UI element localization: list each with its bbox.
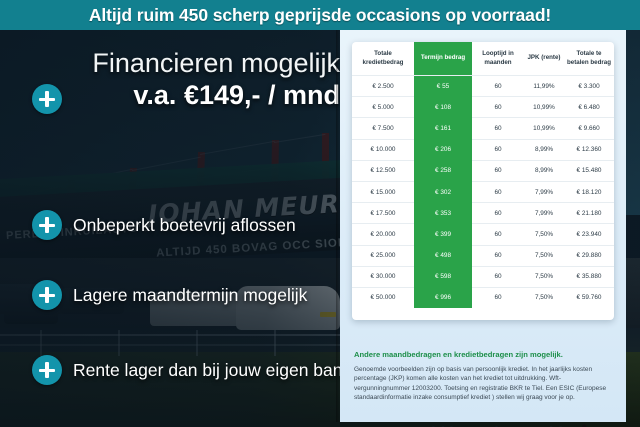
td-krediet: € 50.000 [352, 287, 414, 308]
td-krediet: € 15.000 [352, 181, 414, 202]
table-row: € 30.000€ 598607,50%€ 35.880 [352, 266, 614, 287]
td-jkp: 7,50% [524, 245, 564, 266]
top-banner: Altijd ruim 450 scherp geprijsde occasio… [0, 0, 640, 30]
th-totale-te-betalen: Totale te betalen bedrag [564, 42, 614, 76]
td-jkp: 7,50% [524, 266, 564, 287]
advertisement-banner: JOHAN MEURE PERLER INRUILAUTO'S ALTIJD 4… [0, 0, 640, 427]
td-jkp: 10,99% [524, 97, 564, 118]
td-krediet: € 20.000 [352, 224, 414, 245]
td-jkp: 11,99% [524, 76, 564, 97]
td-looptijd: 60 [472, 224, 524, 245]
td-totaal: € 6.480 [564, 97, 614, 118]
table-row: € 15.000€ 302607,99%€ 18.120 [352, 181, 614, 202]
td-termijn: € 399 [414, 224, 472, 245]
rates-table-card: Totale kredietbedrag Termijn bedrag Loop… [352, 42, 614, 320]
table-row: € 5.000€ 1086010,99%€ 6.480 [352, 97, 614, 118]
benefit-label: Onbeperkt boetevrij aflossen [73, 215, 296, 236]
plus-circle-icon [32, 280, 62, 310]
benefit-label: Lagere maandtermijn mogelijk [73, 285, 307, 306]
td-termijn: € 498 [414, 245, 472, 266]
td-termijn: € 108 [414, 97, 472, 118]
th-totale-kredietbedrag: Totale kredietbedrag [352, 42, 414, 76]
td-krediet: € 10.000 [352, 139, 414, 160]
loan-warning: Let op! Geld lenen kost geld [354, 422, 612, 427]
td-looptijd: 60 [472, 76, 524, 97]
td-krediet: € 30.000 [352, 266, 414, 287]
td-totaal: € 59.760 [564, 287, 614, 308]
td-totaal: € 23.940 [564, 224, 614, 245]
td-jkp: 7,99% [524, 203, 564, 224]
table-row: € 50.000€ 996607,50%€ 59.760 [352, 287, 614, 308]
td-termijn: € 302 [414, 181, 472, 202]
td-krediet: € 17.500 [352, 203, 414, 224]
table-row: € 20.000€ 399607,50%€ 23.940 [352, 224, 614, 245]
td-totaal: € 29.880 [564, 245, 614, 266]
td-termijn: € 598 [414, 266, 472, 287]
hero-headline-line1: Financieren mogelijk [28, 48, 340, 79]
table-row: € 12.500€ 258608,99%€ 15.480 [352, 160, 614, 181]
th-termijn-bedrag: Termijn bedrag [414, 42, 472, 76]
disclaimer-body: Genoemde voorbeelden zijn op basis van p… [354, 365, 608, 403]
table-row: € 25.000€ 498607,50%€ 29.880 [352, 245, 614, 266]
td-totaal: € 18.120 [564, 181, 614, 202]
table-row: € 17.500€ 353607,99%€ 21.180 [352, 203, 614, 224]
plus-circle-icon [32, 355, 62, 385]
td-jkp: 10,99% [524, 118, 564, 139]
plus-circle-icon [32, 210, 62, 240]
td-looptijd: 60 [472, 266, 524, 287]
table-header-row: Totale kredietbedrag Termijn bedrag Loop… [352, 42, 614, 76]
td-termijn: € 996 [414, 287, 472, 308]
td-termijn: € 353 [414, 203, 472, 224]
td-termijn: € 161 [414, 118, 472, 139]
td-krediet: € 7.500 [352, 118, 414, 139]
hero-headline-line2: v.a. €149,- / mnd [28, 79, 340, 112]
finance-info-panel: Totale kredietbedrag Termijn bedrag Loop… [340, 30, 626, 422]
td-looptijd: 60 [472, 118, 524, 139]
rates-table-body: € 2.500€ 556011,99%€ 3.300€ 5.000€ 10860… [352, 76, 614, 309]
td-totaal: € 21.180 [564, 203, 614, 224]
td-krediet: € 25.000 [352, 245, 414, 266]
td-jkp: 7,99% [524, 181, 564, 202]
benefit-item-2: Lagere maandtermijn mogelijk [32, 280, 307, 310]
td-termijn: € 206 [414, 139, 472, 160]
benefit-item-1: Onbeperkt boetevrij aflossen [32, 210, 296, 240]
benefit-label: Rente lager dan bij jouw eigen bank [73, 360, 351, 381]
td-looptijd: 60 [472, 97, 524, 118]
td-jkp: 8,99% [524, 139, 564, 160]
rates-table: Totale kredietbedrag Termijn bedrag Loop… [352, 42, 614, 308]
td-totaal: € 9.660 [564, 118, 614, 139]
td-jkp: 7,50% [524, 224, 564, 245]
hero-headline: Financieren mogelijk v.a. €149,- / mnd [28, 48, 340, 112]
table-row: € 7.500€ 1616010,99%€ 9.660 [352, 118, 614, 139]
td-totaal: € 15.480 [564, 160, 614, 181]
td-totaal: € 3.300 [564, 76, 614, 97]
td-totaal: € 12.360 [564, 139, 614, 160]
benefit-item-3: Rente lager dan bij jouw eigen bank [32, 355, 351, 385]
td-termijn: € 55 [414, 76, 472, 97]
table-row: € 2.500€ 556011,99%€ 3.300 [352, 76, 614, 97]
td-jkp: 8,99% [524, 160, 564, 181]
td-totaal: € 35.880 [564, 266, 614, 287]
td-krediet: € 2.500 [352, 76, 414, 97]
td-looptijd: 60 [472, 203, 524, 224]
td-krediet: € 12.500 [352, 160, 414, 181]
td-termijn: € 258 [414, 160, 472, 181]
top-banner-text: Altijd ruim 450 scherp geprijsde occasio… [89, 5, 551, 26]
td-looptijd: 60 [472, 181, 524, 202]
td-looptijd: 60 [472, 245, 524, 266]
td-looptijd: 60 [472, 139, 524, 160]
disclaimer-heading: Andere maandbedragen en kredietbedragen … [354, 350, 612, 360]
th-jkp: JPK (rente) [524, 42, 564, 76]
td-looptijd: 60 [472, 287, 524, 308]
left-content-column: Financieren mogelijk v.a. €149,- / mnd O… [0, 30, 345, 427]
td-jkp: 7,50% [524, 287, 564, 308]
td-krediet: € 5.000 [352, 97, 414, 118]
table-row: € 10.000€ 206608,99%€ 12.360 [352, 139, 614, 160]
th-looptijd: Looptijd in maanden [472, 42, 524, 76]
td-looptijd: 60 [472, 160, 524, 181]
